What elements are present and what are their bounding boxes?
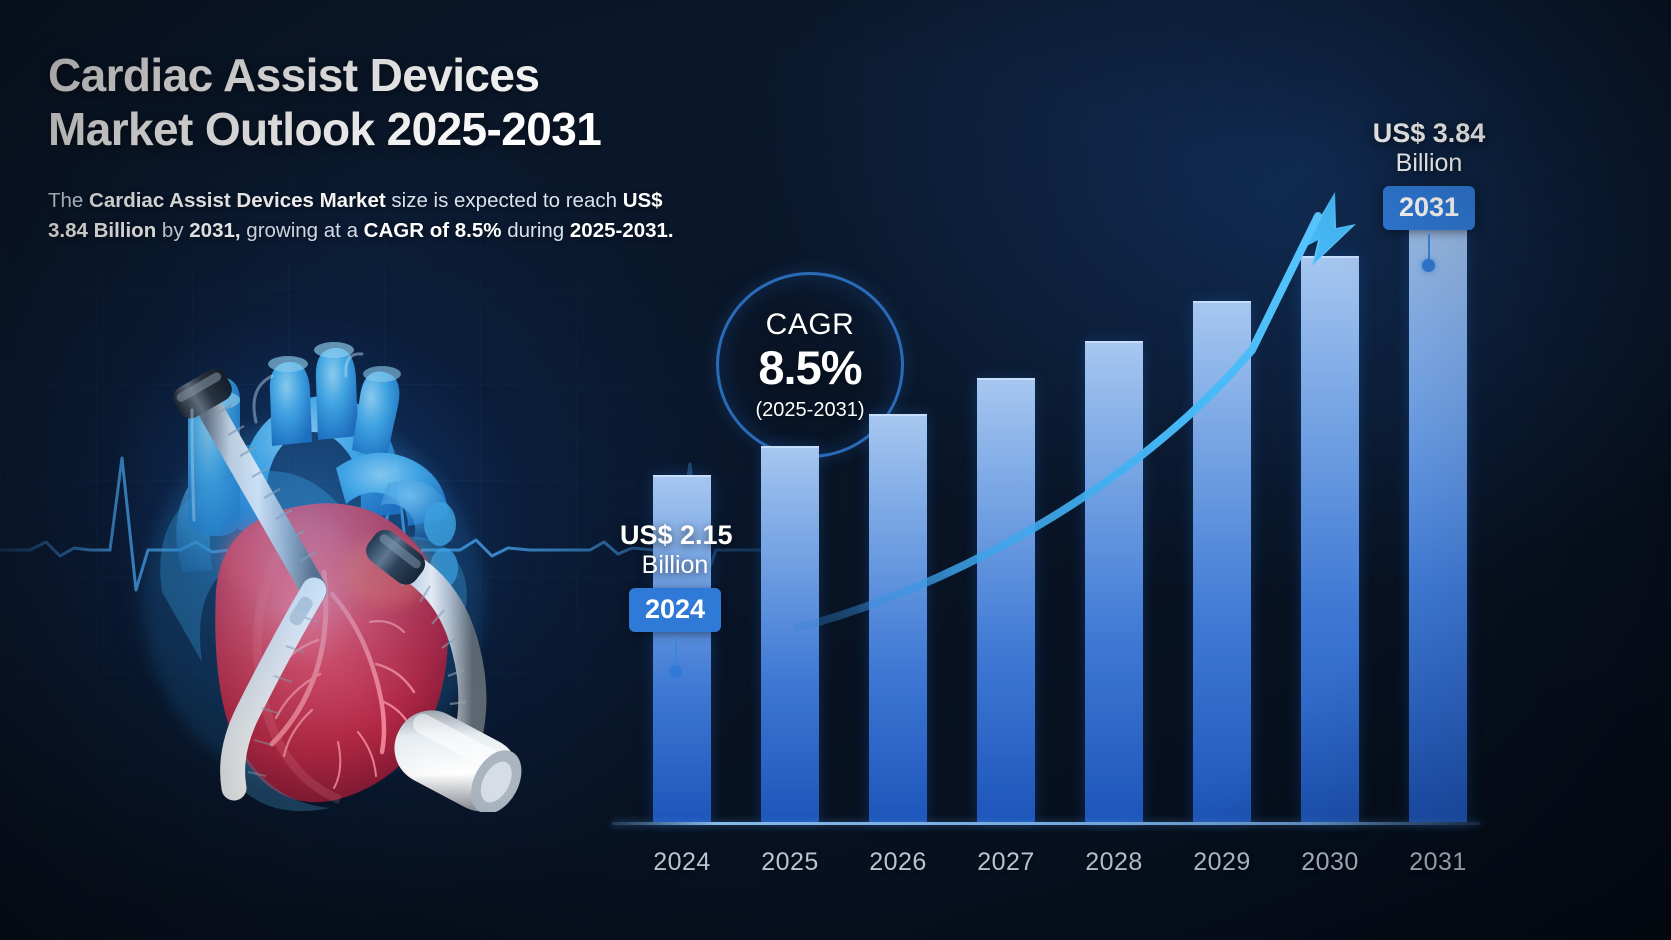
- callout-2024-leader-dot: [669, 665, 682, 678]
- bar-2031[interactable]: [1409, 202, 1467, 822]
- callout-2024-unit: Billion: [620, 550, 730, 580]
- x-axis-line: [612, 822, 1480, 825]
- callout-2024-year-chip[interactable]: 2024: [629, 588, 721, 632]
- subtitle-part-2: size is expected to reach: [386, 189, 623, 212]
- callout-2031-value: US$ 3.84: [1370, 118, 1488, 148]
- subtitle-part-1: Cardiac Assist Devices Market: [89, 189, 386, 212]
- tick-label-2029: 2029: [1168, 848, 1276, 877]
- bar-2028[interactable]: [1085, 341, 1143, 822]
- market-growth-bar-chart: 20242025202620272028202920302031: [612, 120, 1512, 910]
- callout-2031-leader-line: [1428, 234, 1430, 262]
- bar-2029[interactable]: [1193, 301, 1251, 822]
- callout-2031-unit: Billion: [1370, 148, 1488, 178]
- bar-2026[interactable]: [869, 414, 927, 822]
- bar-2025[interactable]: [761, 446, 819, 822]
- callout-2031-leader-dot: [1422, 259, 1435, 272]
- heart-glow: [128, 312, 528, 742]
- callout-2024-value: US$ 2.15: [620, 520, 730, 550]
- subtitle-part-6: growing at a: [241, 219, 364, 242]
- title-line-1: Cardiac Assist Devices: [48, 49, 539, 101]
- bar-2030[interactable]: [1301, 256, 1359, 822]
- subtitle-part-4: by: [156, 219, 189, 242]
- infographic-canvas: Cardiac Assist Devices Market Outlook 20…: [0, 0, 1671, 940]
- tick-label-2027: 2027: [952, 848, 1060, 877]
- bar-2027[interactable]: [977, 378, 1035, 822]
- callout-2024: US$ 2.15 Billion 2024: [620, 520, 730, 632]
- subtitle-part-0: The: [48, 189, 89, 212]
- callout-2024-leader-line: [675, 636, 677, 668]
- subtitle-part-8: during: [502, 219, 570, 242]
- heart-illustration: [88, 272, 558, 812]
- callout-2031-year-chip[interactable]: 2031: [1383, 186, 1475, 230]
- tick-label-2031: 2031: [1384, 848, 1492, 877]
- tick-label-2024: 2024: [628, 848, 736, 877]
- subtitle-part-7: CAGR of 8.5%: [364, 219, 502, 242]
- callout-2031: US$ 3.84 Billion 2031: [1370, 118, 1488, 230]
- tick-label-2026: 2026: [844, 848, 952, 877]
- x-axis-tick-labels: 20242025202620272028202920302031: [612, 832, 1512, 892]
- subtitle-part-5: 2031,: [189, 219, 240, 242]
- tick-label-2030: 2030: [1276, 848, 1384, 877]
- tick-label-2025: 2025: [736, 848, 844, 877]
- tick-label-2028: 2028: [1060, 848, 1168, 877]
- subtitle-description: The Cardiac Assist Devices Market size i…: [48, 186, 688, 245]
